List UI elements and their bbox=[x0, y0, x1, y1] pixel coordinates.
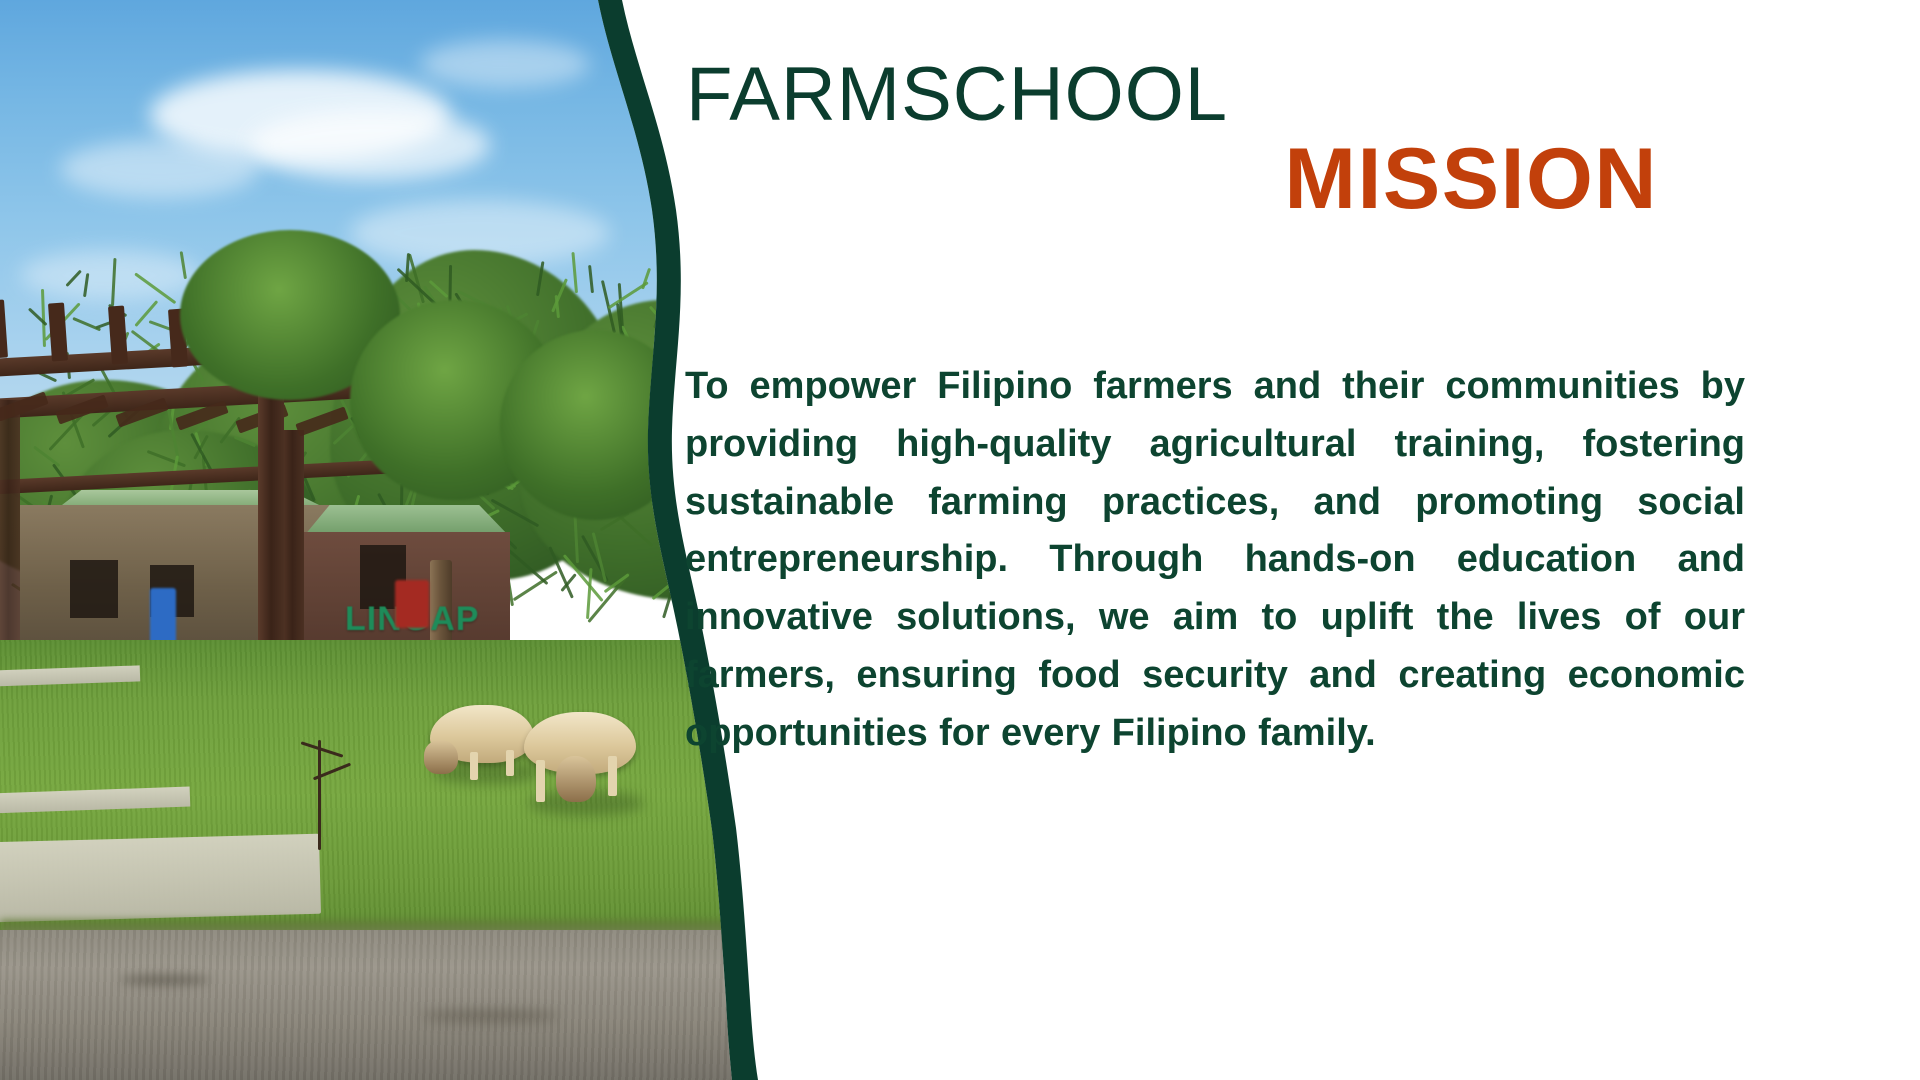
window bbox=[70, 560, 118, 618]
cloud bbox=[250, 110, 490, 180]
pergola-post bbox=[0, 400, 20, 660]
red-cloth bbox=[395, 580, 429, 628]
cloud bbox=[420, 40, 590, 88]
road-texture bbox=[420, 1010, 560, 1022]
sapling bbox=[318, 740, 321, 850]
concrete-slab bbox=[0, 834, 321, 923]
eyebrow-farmschool: FARMSCHOOL bbox=[680, 58, 1870, 132]
road-texture bbox=[120, 975, 210, 985]
palm-crown bbox=[500, 330, 690, 520]
cloud bbox=[60, 140, 260, 198]
sheep-head bbox=[556, 756, 596, 802]
cloud bbox=[20, 250, 200, 300]
heading-block: FARMSCHOOL MISSION bbox=[680, 58, 1870, 222]
slide-root: LINGAP HAVEN FARM bbox=[0, 0, 1920, 1080]
sheep-leg bbox=[608, 756, 617, 796]
sheep-head bbox=[424, 740, 458, 774]
farm-sign-line-1: LINGAP bbox=[345, 600, 635, 639]
sheep-leg bbox=[506, 750, 514, 776]
page-title: MISSION bbox=[680, 136, 1870, 222]
sheep-leg bbox=[470, 752, 478, 780]
mission-statement: To empower Filipino farmers and their co… bbox=[685, 358, 1745, 762]
content-panel: FARMSCHOOL MISSION To empower Filipino f… bbox=[680, 0, 1920, 1080]
sheep-leg bbox=[536, 760, 545, 802]
